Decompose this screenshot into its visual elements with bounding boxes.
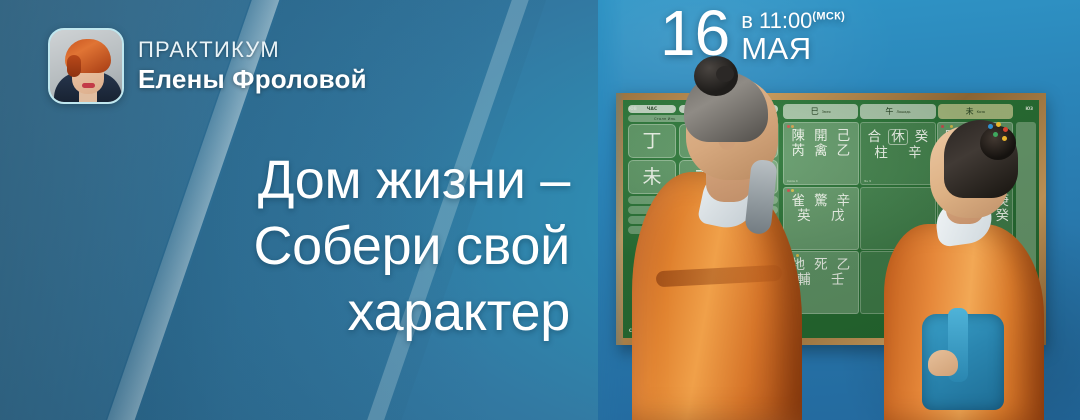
branch-char-snake: 巳 [811, 106, 819, 117]
palace-char: 合 [868, 130, 882, 144]
palace-char: 死 [814, 258, 828, 272]
palace-char: 乙 [837, 144, 851, 158]
hair-ornament-icon [988, 122, 1014, 144]
palace-char: 己 [837, 129, 851, 143]
branch-cell-horse: 午 Лошадь [860, 104, 935, 119]
event-timezone: (МСК) [812, 11, 845, 23]
palace-footer: Ян 9 [864, 179, 871, 183]
event-time: в 11:00(МСК) [741, 10, 845, 32]
figure-teacher [632, 68, 802, 420]
event-date-block: 16 в 11:00(МСК) МАЯ [660, 4, 845, 66]
palace-char: 開 [814, 129, 828, 143]
event-time-month: в 11:00(МСК) МАЯ [741, 4, 845, 66]
palace-char: 辛 [837, 194, 851, 208]
branch-cell-goat: 未 Коза [938, 104, 1013, 119]
headline-line-1: Дом жизни – [40, 148, 570, 214]
branch-label-horse: Лошадь [896, 110, 910, 114]
palace-char: 戊 [831, 209, 845, 223]
headline-line-3: характер [40, 280, 570, 346]
branch-char-goat: 未 [966, 106, 974, 117]
author-line-name: Елены Фроловой [138, 65, 367, 94]
palace-char: 乙 [837, 258, 851, 272]
branch-char-horse: 午 [885, 106, 893, 117]
palace-char: 驚 [814, 194, 828, 208]
palace-char: 禽 [814, 144, 828, 158]
avatar-hair [65, 39, 111, 73]
branch-band: 巳 Змея 午 Лошадь 未 Коза [783, 104, 1013, 119]
author-line-practicum: ПРАКТИКУМ [138, 38, 367, 63]
student-hand [928, 350, 958, 376]
event-time-value: в 11:00 [741, 8, 812, 33]
promo-banner: ЮВ ЮЗ СВ СЗ ЧАС МЕСЯЦ ГОД Столп Инь Ск [0, 0, 1080, 420]
event-day: 16 [660, 4, 729, 63]
page-title: Дом жизни – Собери свой характер [40, 148, 570, 346]
headline-line-2: Собери свой [40, 214, 570, 280]
avatar-lips [82, 83, 95, 88]
author-text: ПРАКТИКУМ Елены Фроловой [138, 38, 367, 94]
author-block: ПРАКТИКУМ Елены Фроловой [48, 28, 367, 104]
event-month: МАЯ [741, 33, 845, 66]
branch-label-snake: Змея [822, 110, 831, 114]
board-edge-label-nw: ЮЗ [1025, 106, 1033, 111]
branch-label-goat: Коза [977, 110, 985, 114]
figure-student [884, 120, 1044, 420]
avatar [48, 28, 124, 104]
palace-char: 壬 [831, 273, 845, 287]
